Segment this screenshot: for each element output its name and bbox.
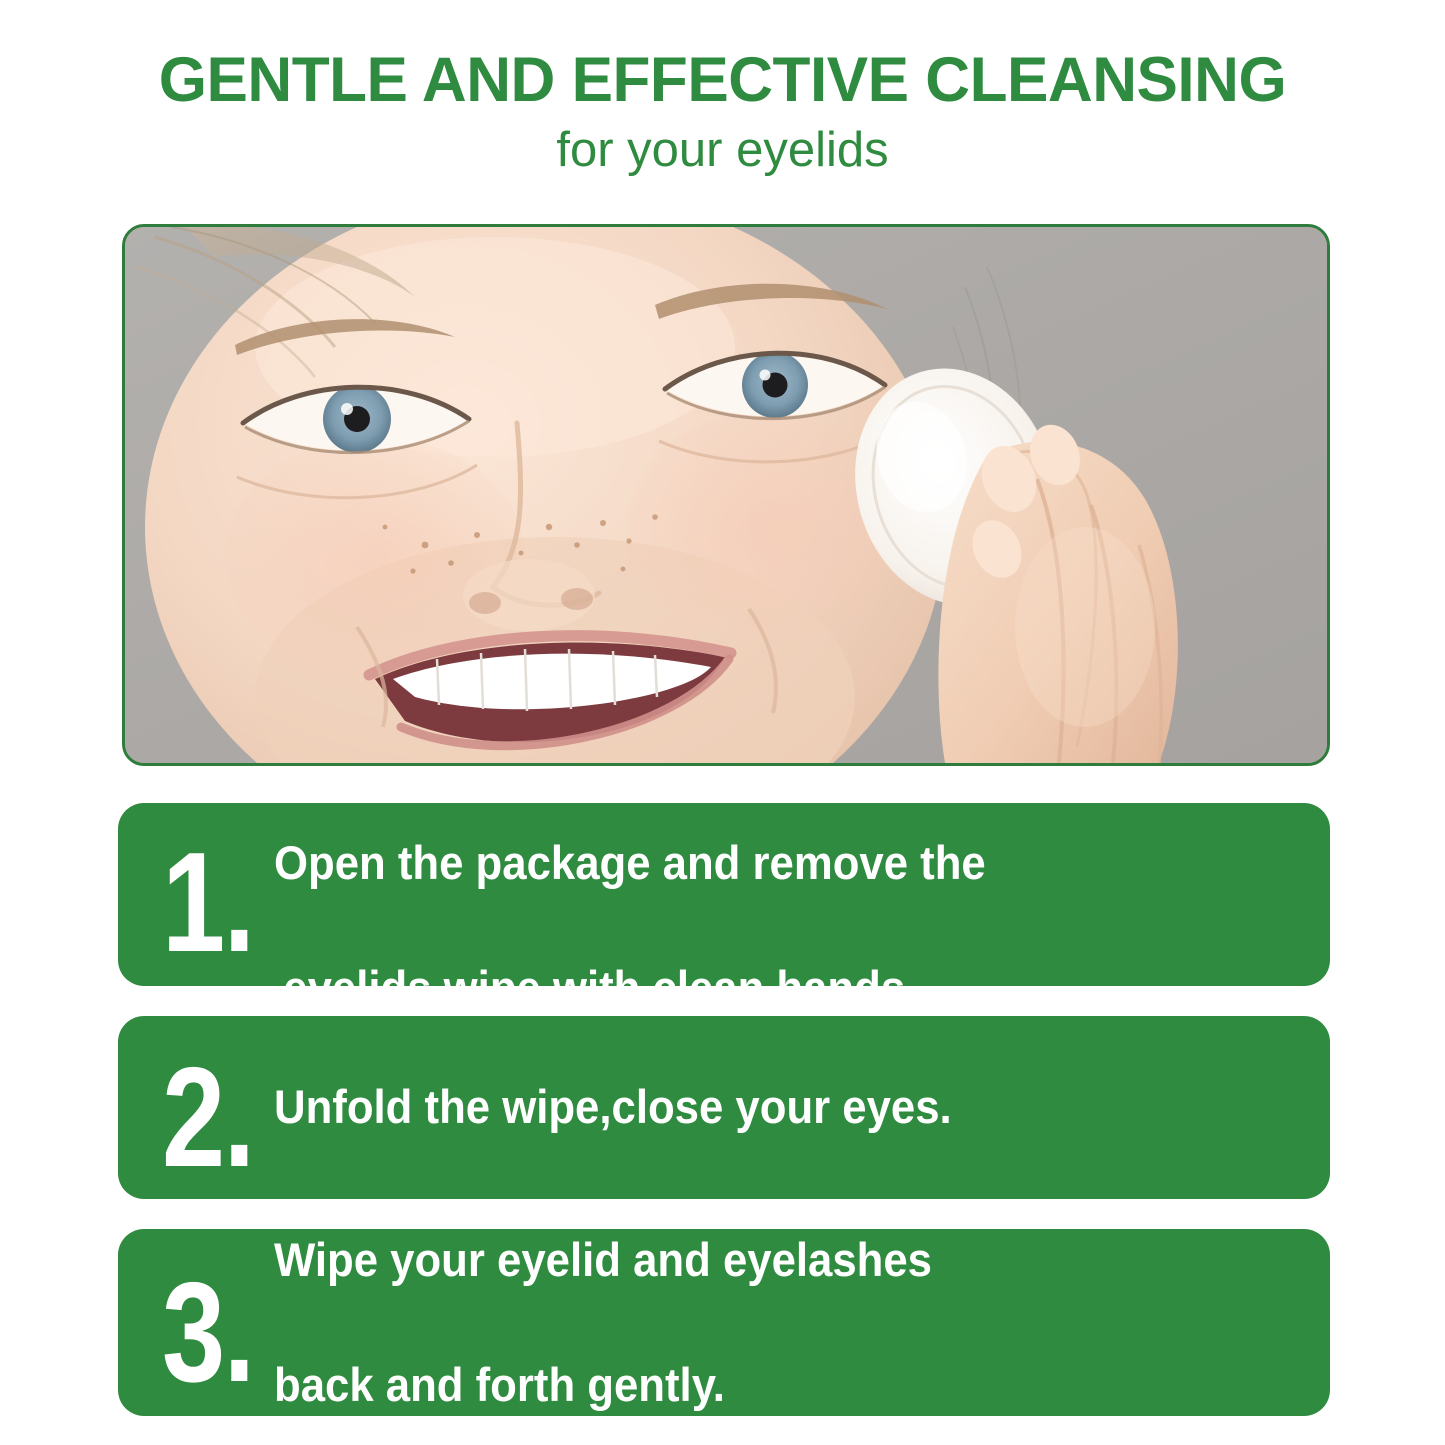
step-text-1: Open the package and remove the eyelids …: [274, 803, 1234, 986]
hero-photo: [122, 224, 1330, 766]
step-1-line-2: eyelids wipe with clean hands.: [274, 957, 917, 986]
step-text-2: Unfold the wipe,close your eyes.: [274, 1023, 1234, 1192]
step-number-2: 2.: [162, 1058, 256, 1177]
page-subtitle: for your eyelids: [0, 124, 1445, 178]
instruction-step-2: 2. Unfold the wipe,close your eyes.: [118, 1016, 1330, 1199]
step-number-1: 1.: [162, 843, 256, 962]
step-3-line-1: Wipe your eyelid and eyelashes: [274, 1229, 1234, 1291]
instruction-step-3: 3. Wipe your eyelid and eyelashes back a…: [118, 1229, 1330, 1416]
instruction-steps: 1. Open the package and remove the eyeli…: [118, 803, 1330, 1416]
product-infographic: GENTLE AND EFFECTIVE CLEANSING for your …: [0, 0, 1445, 1445]
step-2-line-1: Unfold the wipe,close your eyes.: [274, 1079, 1234, 1135]
step-1-line-1: Open the package and remove the: [274, 832, 1234, 894]
instruction-step-1: 1. Open the package and remove the eyeli…: [118, 803, 1330, 986]
page-title: GENTLE AND EFFECTIVE CLEANSING: [11, 48, 1434, 112]
hero-photo-illustration: [125, 227, 1327, 763]
header: GENTLE AND EFFECTIVE CLEANSING for your …: [0, 48, 1445, 178]
step-3-line-2: back and forth gently.: [274, 1354, 1234, 1416]
step-text-3: Wipe your eyelid and eyelashes back and …: [274, 1229, 1234, 1416]
step-number-3: 3.: [162, 1273, 256, 1392]
